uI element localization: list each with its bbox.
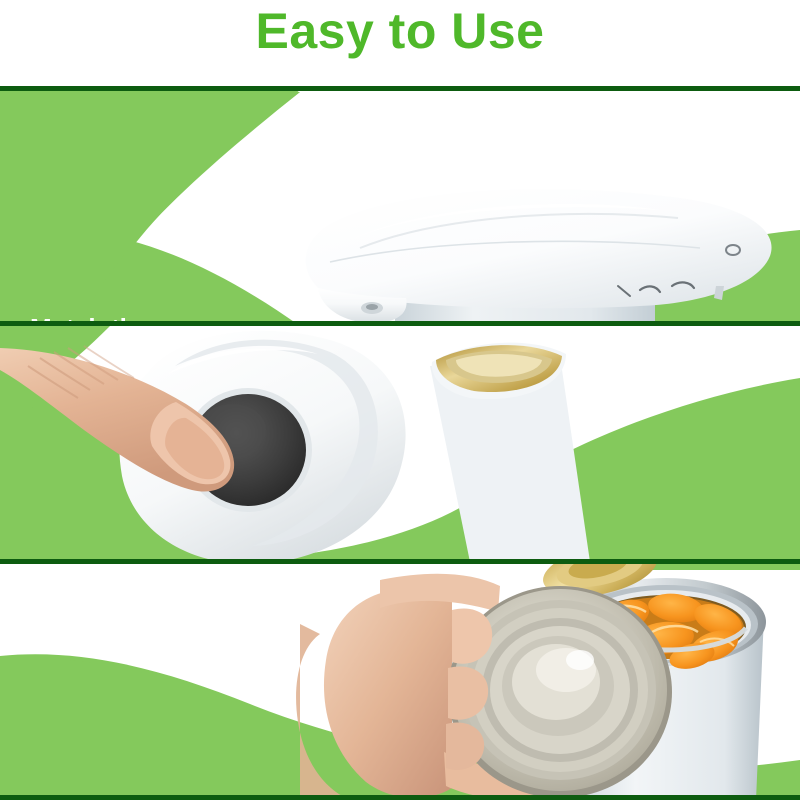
header: Easy to Use (0, 0, 800, 90)
divider-between-1-2 (0, 321, 800, 326)
panel-3-illustration (0, 564, 800, 800)
panel-step-3: Perfectly done the work (0, 564, 800, 800)
panel-1-illustration (0, 90, 800, 326)
panel-2-illustration (0, 326, 800, 564)
panel-step-1: Match the opener and can (0, 90, 800, 326)
page-title: Easy to Use (0, 2, 800, 60)
divider-between-2-3 (0, 559, 800, 564)
panel-step-2: Press the button to start (0, 326, 800, 564)
divider-bottom (0, 795, 800, 800)
infographic-root: Easy to Use (0, 0, 800, 800)
divider-top (0, 86, 800, 91)
